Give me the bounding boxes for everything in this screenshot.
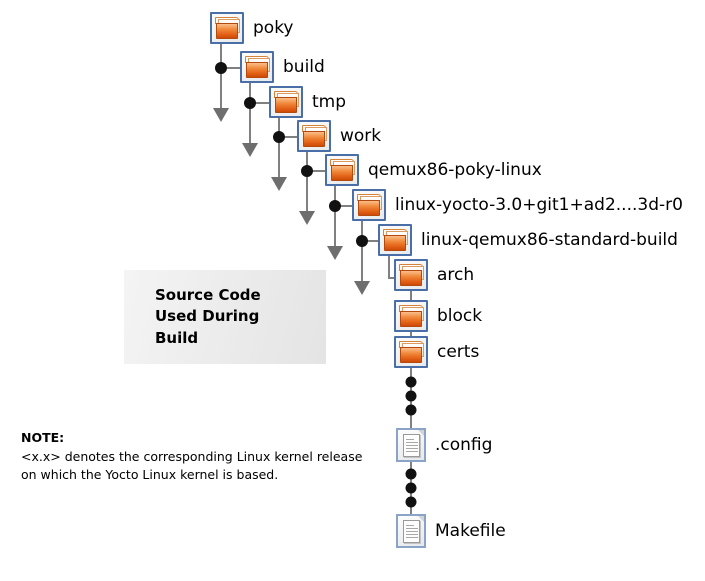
tree-node-qemux86-poky-linux[interactable]: qemux86-poky-linux bbox=[325, 154, 542, 186]
folder-icon bbox=[352, 189, 386, 221]
file-icon bbox=[396, 514, 426, 548]
folder-icon bbox=[378, 224, 412, 256]
tree-node-label: work bbox=[340, 128, 381, 145]
tree-node-build[interactable]: build bbox=[240, 51, 325, 83]
tree-node-label: qemux86-poky-linux bbox=[368, 162, 542, 179]
tree-node-linux-qemux86-standard-build[interactable]: linux-qemux86-standard-build bbox=[378, 224, 678, 256]
folder-icon bbox=[394, 259, 428, 291]
tree-node-label: linux-yocto-3.0+git1+ad2....3d-r0 bbox=[395, 197, 683, 214]
folder-icon bbox=[297, 120, 331, 152]
folder-icon bbox=[210, 12, 244, 44]
tree-node-poky[interactable]: poky bbox=[210, 12, 294, 44]
tree-node-label: arch bbox=[437, 267, 474, 284]
note-title: NOTE: bbox=[21, 430, 381, 447]
tree-node-certs[interactable]: certs bbox=[394, 336, 479, 368]
tree-node-label: build bbox=[283, 59, 325, 76]
tree-node-label: linux-qemux86-standard-build bbox=[421, 232, 678, 249]
callout-label: Source Code Used During Build bbox=[155, 285, 261, 349]
tree-node-block[interactable]: block bbox=[394, 300, 482, 332]
tree-node-tmp[interactable]: tmp bbox=[269, 86, 346, 118]
tree-node-label: tmp bbox=[312, 94, 346, 111]
folder-icon bbox=[269, 86, 303, 118]
tree-node-config[interactable]: .config bbox=[396, 428, 492, 462]
tree-node-label: Makefile bbox=[435, 523, 506, 540]
tree-node-label: certs bbox=[437, 344, 479, 361]
folder-icon bbox=[240, 51, 274, 83]
tree-node-makefile[interactable]: Makefile bbox=[396, 514, 506, 548]
tree-node-arch[interactable]: arch bbox=[394, 259, 474, 291]
source-code-callout: Source Code Used During Build bbox=[124, 270, 326, 364]
folder-icon bbox=[325, 154, 359, 186]
tree-node-linux-yocto[interactable]: linux-yocto-3.0+git1+ad2....3d-r0 bbox=[352, 189, 683, 221]
file-icon bbox=[396, 428, 426, 462]
tree-connectors bbox=[0, 0, 705, 581]
folder-icon bbox=[394, 300, 428, 332]
directory-tree-diagram: poky build tmp work qemux86-poky-linux l… bbox=[0, 0, 705, 581]
tree-node-label: block bbox=[437, 308, 482, 325]
tree-node-label: poky bbox=[253, 20, 294, 37]
tree-node-label: .config bbox=[435, 437, 492, 454]
note-body: <x.x> denotes the corresponding Linux ke… bbox=[21, 448, 381, 484]
folder-icon bbox=[394, 336, 428, 368]
note-block: NOTE: <x.x> denotes the corresponding Li… bbox=[21, 430, 381, 483]
tree-node-work[interactable]: work bbox=[297, 120, 381, 152]
